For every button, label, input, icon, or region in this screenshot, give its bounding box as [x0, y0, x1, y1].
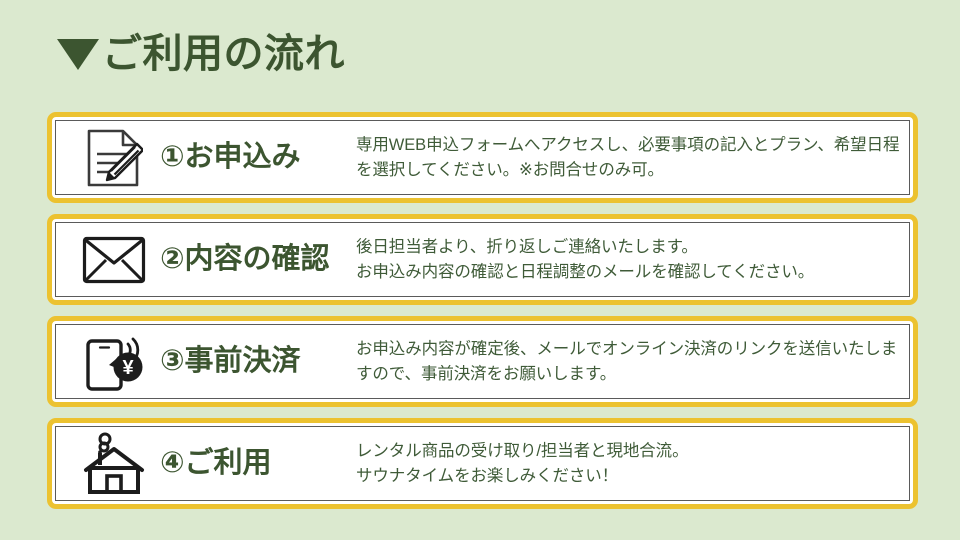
- step-4-body: レンタル商品の受け取り/担当者と現地合流。 サウナタイムをお楽しみください！: [356, 439, 909, 489]
- step-card-3: ¥ ③事前決済 お申込み内容が確定後、メールでオンライン決済のリンクを送信いたし…: [47, 316, 918, 407]
- step-4-heading: ④ご利用: [160, 449, 352, 478]
- page-title: ご利用の流れ: [57, 34, 345, 74]
- slide-canvas: ご利用の流れ: [0, 0, 960, 540]
- svg-text:¥: ¥: [122, 357, 134, 379]
- step-card-1-inner: ①お申込み 専用WEB申込フォームへアクセスし、必要事項の記入とプラン、希望日程…: [55, 120, 910, 195]
- step-card-2-inner: ②内容の確認 後日担当者より、折り返しご連絡いたします。 お申込み内容の確認と日…: [55, 222, 910, 297]
- step-2-body: 後日担当者より、折り返しご連絡いたします。 お申込み内容の確認と日程調整のメール…: [356, 235, 909, 285]
- step-card-4: ④ご利用 レンタル商品の受け取り/担当者と現地合流。 サウナタイムをお楽しみくだ…: [47, 418, 918, 509]
- sauna-hut-icon: [80, 431, 148, 497]
- step-1-body: 専用WEB申込フォームへアクセスし、必要事項の記入とプラン、希望日程を選択してく…: [356, 133, 909, 183]
- page-title-text: ご利用の流れ: [102, 34, 345, 74]
- step-3-heading: ③事前決済: [160, 347, 352, 376]
- step-card-4-inner: ④ご利用 レンタル商品の受け取り/担当者と現地合流。 サウナタイムをお楽しみくだ…: [55, 426, 910, 501]
- steps-list: ①お申込み 専用WEB申込フォームへアクセスし、必要事項の記入とプラン、希望日程…: [47, 112, 918, 520]
- envelope-icon: [80, 227, 148, 293]
- step-1-heading: ①お申込み: [160, 143, 352, 172]
- step-card-1: ①お申込み 専用WEB申込フォームへアクセスし、必要事項の記入とプラン、希望日程…: [47, 112, 918, 203]
- step-card-3-inner: ¥ ③事前決済 お申込み内容が確定後、メールでオンライン決済のリンクを送信いたし…: [55, 324, 910, 399]
- triangle-marker-icon: [57, 39, 99, 70]
- step-card-2: ②内容の確認 後日担当者より、折り返しご連絡いたします。 お申込み内容の確認と日…: [47, 214, 918, 305]
- step-2-heading: ②内容の確認: [160, 245, 352, 274]
- step-3-body: お申込み内容が確定後、メールでオンライン決済のリンクを送信いたしますので、事前決…: [356, 337, 909, 387]
- smartphone-payment-icon: ¥: [80, 329, 148, 395]
- document-pencil-icon: [80, 125, 148, 191]
